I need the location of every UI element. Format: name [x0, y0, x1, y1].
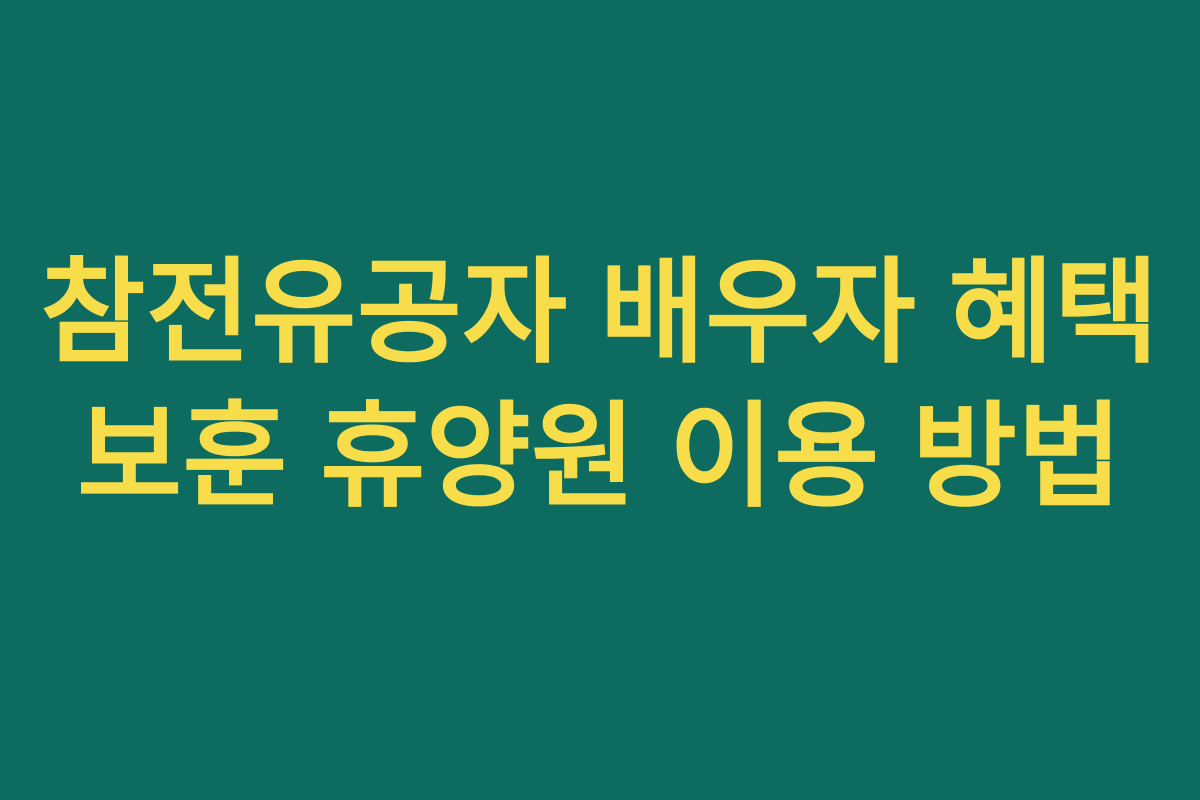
title-line-1: 참전유공자 배우자 혜택: [0, 242, 1200, 386]
title-card-banner: 참전유공자 배우자 혜택 보훈 휴양원 이용 방법: [0, 0, 1200, 800]
title-line-2: 보훈 휴양원 이용 방법: [0, 386, 1200, 530]
title-block: 참전유공자 배우자 혜택 보훈 휴양원 이용 방법: [0, 242, 1200, 529]
